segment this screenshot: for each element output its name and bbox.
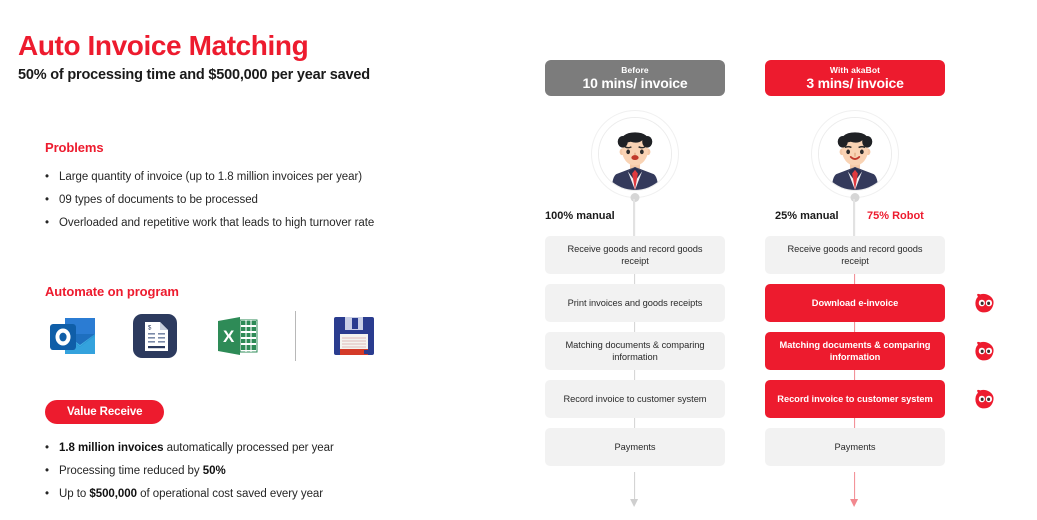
list-item: •1.8 million invoices automatically proc… [45,441,495,455]
bullet-icon: • [45,487,59,501]
process-step-label-1: Receive goods and record goods receipt [774,243,936,268]
list-item: •09 types of documents to be processed [45,193,485,207]
akabot-mascot-icon [973,292,997,314]
manual-percentage-label: 100% manual [545,210,615,222]
column-header-big-before: 10 mins/ invoice [583,76,688,91]
process-step-label-3: Matching documents & comparing informati… [554,339,716,364]
problems-list: •Large quantity of invoice (up to 1.8 mi… [45,170,485,239]
process-step[interactable]: Print invoices and goods receipts [545,284,725,322]
column-header-before: Before10 mins/ invoice [545,60,725,96]
process-step[interactable]: Receive goods and record goods receipt [765,236,945,274]
process-step-label-3: Matching documents & comparing informati… [774,339,936,364]
problem-text-2: Overloaded and repetitive work that lead… [59,216,374,230]
problems-heading: Problems [45,140,103,155]
process-step-label-2: Download e-invoice [812,297,898,309]
automate-icon-row: $ [45,308,382,364]
process-step-label-1: Receive goods and record goods receipt [554,243,716,268]
column-header-small-akabot: With akaBot [830,66,880,75]
value-text-1: Processing time reduced by 50% [59,464,226,478]
manual-percentage-label: 25% manual [775,210,839,222]
problem-text-1: 09 types of documents to be processed [59,193,258,207]
column-header-akabot: With akaBot3 mins/ invoice [765,60,945,96]
process-step-label-4: Record invoice to customer system [563,393,706,405]
svg-text:X: X [223,327,235,346]
process-step-label-5: Payments [835,441,876,453]
value-text-2: Up to $500,000 of operational cost saved… [59,487,323,501]
icon-divider [295,311,296,361]
problem-text-0: Large quantity of invoice (up to 1.8 mil… [59,170,362,184]
list-item: •Processing time reduced by 50% [45,464,495,478]
process-step-label-5: Payments [615,441,656,453]
process-step[interactable]: Payments [765,428,945,466]
robot-percentage-label: 75% Robot [867,210,924,222]
bullet-icon: • [45,441,59,455]
process-steps-before: Receive goods and record goods receiptPr… [545,236,725,476]
worried-employee-avatar [591,110,679,198]
column-header-small-before: Before [621,66,649,75]
bullet-icon: • [45,170,59,184]
flow-end-arrow [854,472,856,500]
value-receive-list: •1.8 million invoices automatically proc… [45,441,495,510]
process-step[interactable]: Download e-invoice [765,284,945,322]
akabot-mascot-icon [973,340,997,362]
arrow-head-icon [850,499,858,507]
bullet-icon: • [45,193,59,207]
value-text-0: 1.8 million invoices automatically proce… [59,441,334,455]
split-labels-before: 100% manual [527,210,742,230]
list-item: •Up to $500,000 of operational cost save… [45,487,495,501]
process-step[interactable]: Record invoice to customer system [545,380,725,418]
process-step[interactable]: Matching documents & comparing informati… [545,332,725,370]
column-header-big-akabot: 3 mins/ invoice [806,76,903,91]
process-step[interactable]: Matching documents & comparing informati… [765,332,945,370]
list-item: •Large quantity of invoice (up to 1.8 mi… [45,170,485,184]
process-steps-akabot: Receive goods and record goods receiptDo… [765,236,945,476]
akabot-mascot-icon [973,388,997,410]
process-step[interactable]: Receive goods and record goods receipt [545,236,725,274]
left-content-panel: Auto Invoice Matching 50% of processing … [0,0,520,520]
automate-heading: Automate on program [45,284,179,299]
split-labels-akabot: 25% manual75% Robot [747,210,962,230]
bullet-icon: • [45,464,59,478]
process-step[interactable]: Payments [545,428,725,466]
outlook-icon[interactable] [45,308,101,364]
invoice-document-icon[interactable]: $ [127,308,183,364]
slide-canvas: Auto Invoice Matching 50% of processing … [0,0,1037,520]
process-step-label-2: Print invoices and goods receipts [568,297,703,309]
happy-employee-avatar [811,110,899,198]
flow-end-arrow [634,472,636,500]
arrow-head-icon [630,499,638,507]
avatar [818,117,892,191]
process-step[interactable]: Record invoice to customer system [765,380,945,418]
excel-icon[interactable]: X [209,308,265,364]
list-item: •Overloaded and repetitive work that lea… [45,216,485,230]
bullet-icon: • [45,216,59,230]
split-divider [633,199,635,236]
avatar [598,117,672,191]
page-title: Auto Invoice Matching [18,30,308,62]
process-step-label-4: Record invoice to customer system [777,393,932,405]
floppy-disk-save-icon[interactable] [326,308,382,364]
value-receive-badge: Value Receive [45,400,164,424]
page-subtitle: 50% of processing time and $500,000 per … [18,67,370,83]
split-divider [853,199,855,236]
